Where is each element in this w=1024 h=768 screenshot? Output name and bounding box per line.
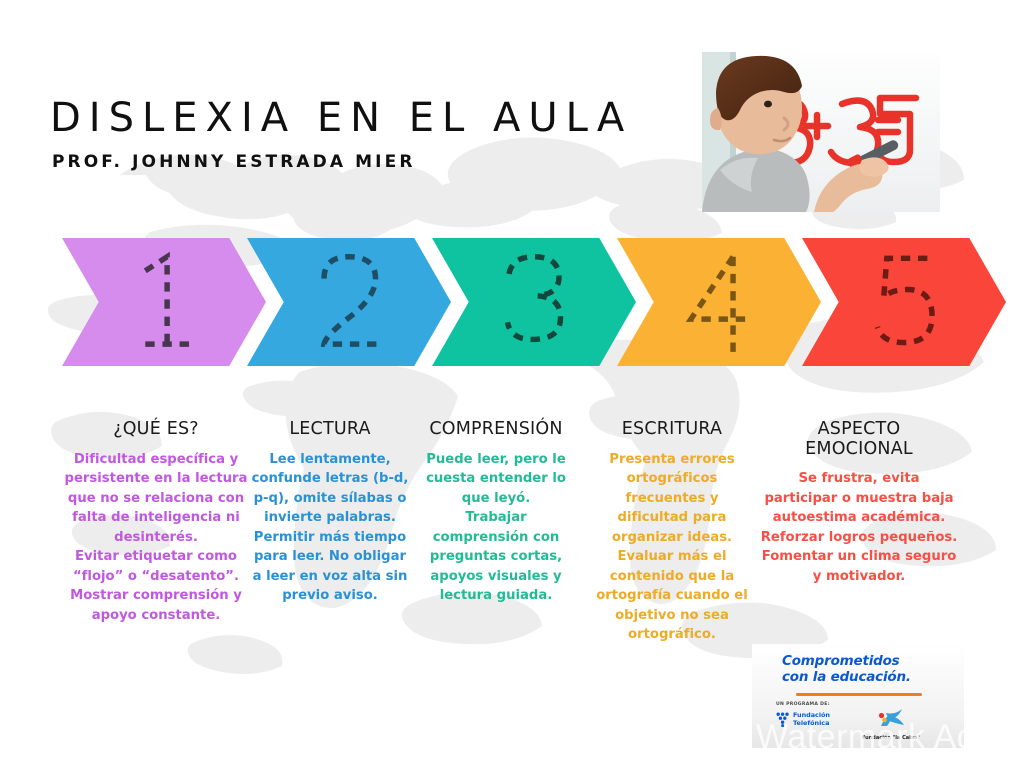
chevron-step-2 [247,238,451,366]
chevron-number-2 [247,238,451,366]
column-body-text: Presenta errores ortográficos frecuentes… [592,450,752,645]
sponsor-logo-card: Comprometidos con la educación. UN PROGR… [752,644,964,748]
column-body-text: Se frustra, evita participar o muestra b… [760,469,958,586]
column-2: LECTURALee lentamente, confunde letras (… [244,420,416,606]
column-body-text: Lee lentamente, confunde letras (b-d, p-… [250,450,410,606]
chevron-number-5 [802,238,1006,366]
classroom-photo [702,52,940,212]
lacaixa-star-icon [876,707,906,729]
sponsor-tagline: Comprometidos con la educación. [782,654,942,686]
chevron-number-4 [617,238,821,366]
column-5: ASPECTO EMOCIONALSe frustra, evita parti… [754,420,964,586]
chevron-number-3 [432,238,636,366]
header-block: DISLEXIA EN EL AULA PROF. JOHNNY ESTRADA… [50,96,632,172]
column-4: ESCRITURAPresenta errores ortográficos f… [586,420,758,645]
column-heading: ESCRITURA [592,420,752,440]
sponsor-program-label: UN PROGRAMA DE: [776,702,830,707]
sponsor-underline-accent [796,693,922,696]
chevron-step-5 [802,238,1006,366]
chevron-number-1 [62,238,266,366]
chevron-step-band [0,238,1024,366]
column-heading: ¿QUÉ ES? [62,420,250,440]
column-heading: LECTURA [250,420,410,440]
chevron-step-3 [432,238,636,366]
column-3: COMPRENSIÓNPuede leer, pero le cuesta en… [410,420,582,606]
column-1: ¿QUÉ ES?Dificultad específica y persiste… [56,420,256,625]
chevron-step-4 [617,238,821,366]
page-subtitle-author: PROF. JOHNNY ESTRADA MIER [52,152,632,172]
column-heading: ASPECTO EMOCIONAL [760,420,958,459]
column-heading: COMPRENSIÓN [416,420,576,440]
fundacion-lacaixa-name: Fundación "la Caixa" [862,735,920,741]
page-title: DISLEXIA EN EL AULA [50,96,632,140]
column-body-text: Puede leer, pero le cuesta entender lo q… [416,450,576,606]
fundacion-telefonica-logo: Fundación Telefónica [776,712,830,727]
fundacion-telefonica-name: Fundación Telefónica [793,712,830,727]
telefonica-dots-icon [776,712,790,727]
column-body-text: Dificultad específica y persistente en l… [62,450,250,626]
chevron-step-1 [62,238,266,366]
fundacion-lacaixa-logo: Fundación "la Caixa" [862,707,920,741]
